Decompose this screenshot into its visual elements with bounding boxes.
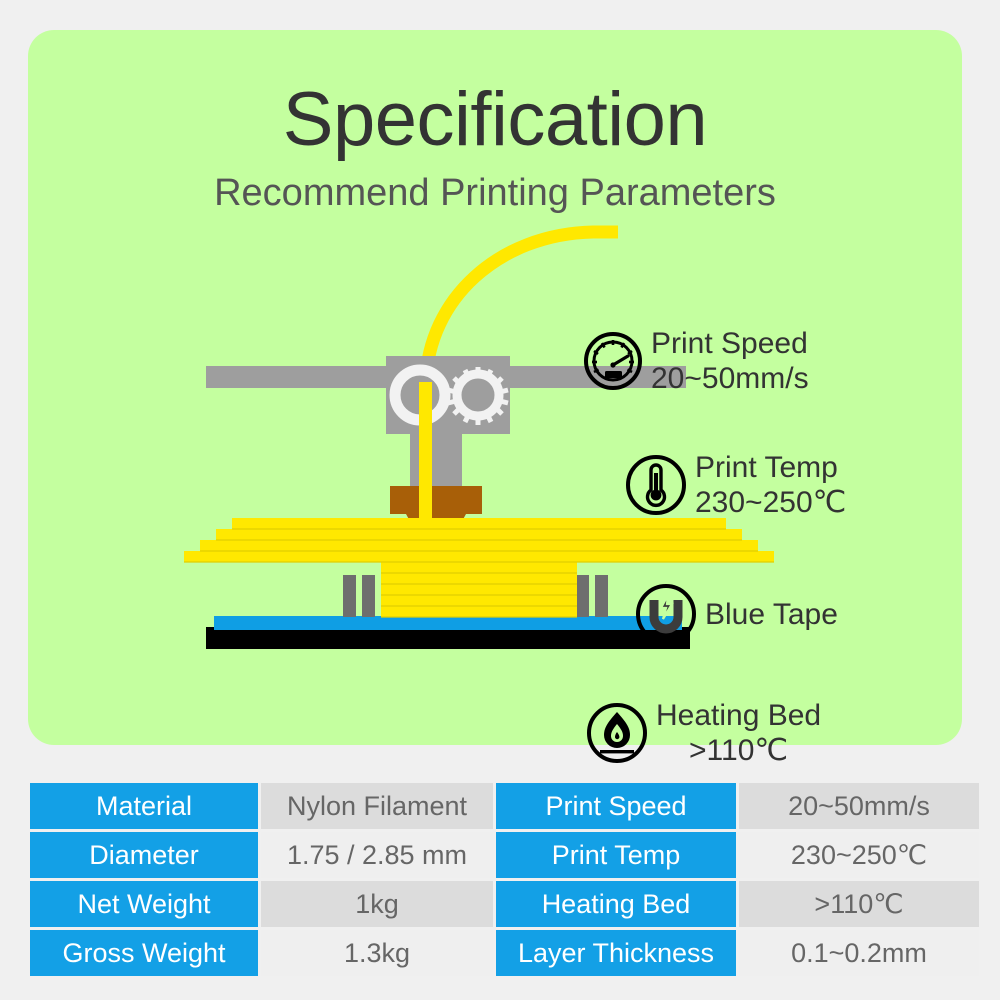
feature-print-speed-text: Print Speed 20~50mm/s bbox=[651, 326, 809, 396]
hotend-neck bbox=[410, 434, 462, 488]
table-row-key: Net Weight bbox=[30, 881, 258, 927]
table-row-value: 0.1~0.2mm bbox=[739, 930, 979, 976]
table-row-value: 1kg bbox=[261, 881, 493, 927]
feature-blue-tape-text: Blue Tape bbox=[705, 597, 838, 632]
feature-print-temp-text: Print Temp 230~250℃ bbox=[695, 450, 846, 520]
table-row-key: Print Speed bbox=[496, 783, 736, 829]
feature-print-temp: Print Temp 230~250℃ bbox=[625, 450, 846, 520]
feature-label: Print Temp bbox=[695, 450, 846, 485]
table-row-key: Layer Thickness bbox=[496, 930, 736, 976]
table-row-key: Print Temp bbox=[496, 832, 736, 878]
feature-heating-bed-text: Heating Bed >110℃ bbox=[656, 698, 821, 768]
feature-heating-bed: Heating Bed >110℃ bbox=[586, 698, 821, 768]
table-row-key: Material bbox=[30, 783, 258, 829]
table-row-value: 230~250℃ bbox=[739, 832, 979, 878]
table-row-key: Diameter bbox=[30, 832, 258, 878]
feature-value: >110℃ bbox=[656, 733, 821, 768]
speedometer-icon bbox=[583, 331, 643, 391]
blue-tape-layer bbox=[214, 616, 682, 630]
feature-blue-tape: Blue Tape bbox=[635, 583, 838, 645]
feature-print-speed: Print Speed 20~50mm/s bbox=[583, 326, 809, 396]
magnet-icon bbox=[635, 583, 697, 645]
feature-value: 20~50mm/s bbox=[651, 361, 809, 396]
table-row-key: Heating Bed bbox=[496, 881, 736, 927]
feature-label: Blue Tape bbox=[705, 597, 838, 632]
table-row-value: 1.75 / 2.85 mm bbox=[261, 832, 493, 878]
feature-label: Print Speed bbox=[651, 326, 809, 361]
thermometer-icon bbox=[625, 454, 687, 516]
table-row-key: Gross Weight bbox=[30, 930, 258, 976]
heated-bed bbox=[206, 627, 690, 649]
specification-panel: Specification Recommend Printing Paramet… bbox=[28, 30, 962, 745]
feature-value: 230~250℃ bbox=[695, 485, 846, 520]
table-row-value: >110℃ bbox=[739, 881, 979, 927]
flame-bed-icon bbox=[586, 702, 648, 764]
table-row-value: Nylon Filament bbox=[261, 783, 493, 829]
spec-table: Material Nylon Filament Print Speed 20~5… bbox=[30, 783, 970, 976]
table-row-value: 20~50mm/s bbox=[739, 783, 979, 829]
table-row-value: 1.3kg bbox=[261, 930, 493, 976]
specification-infographic: Specification Recommend Printing Paramet… bbox=[0, 0, 1000, 1000]
feature-label: Heating Bed bbox=[656, 698, 821, 733]
